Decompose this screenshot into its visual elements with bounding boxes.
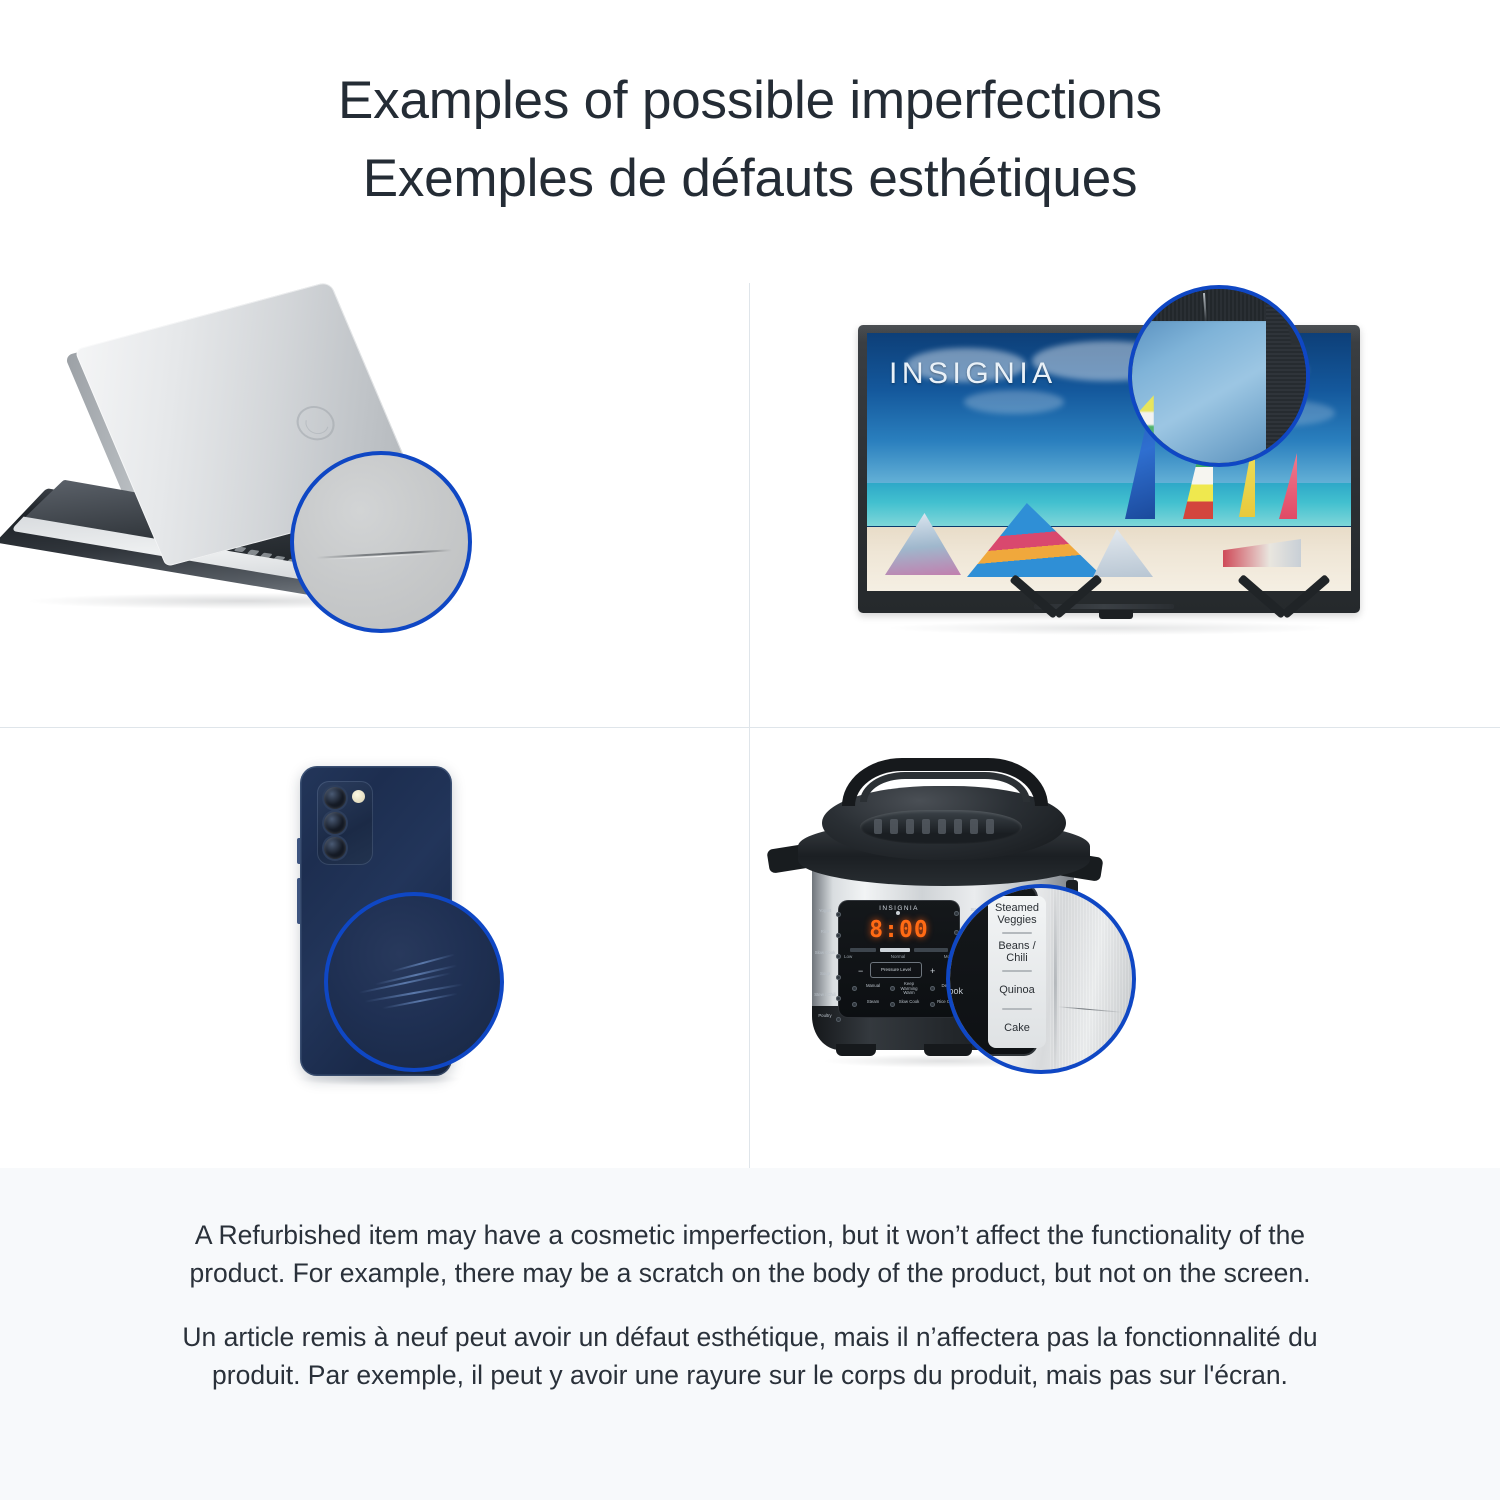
zoom-button-beans-chili[interactable]: Beans / Chili: [988, 934, 1046, 972]
cooker-button-stew-chili[interactable]: Stew / Chili: [812, 993, 838, 998]
television-foot-left: [998, 611, 1118, 649]
camera-lens-icon: [324, 812, 346, 834]
cooker-status-led-icon: [896, 911, 900, 915]
cooker-button-slow-cook[interactable]: Slow Cook: [812, 951, 838, 956]
panel-television: INSIGNIA: [750, 283, 1499, 727]
panel-pressure-cooker: INSIGNIA 8:00 Low Normal More − Pressure…: [750, 728, 1499, 1172]
zoom-steel-grain: [1050, 888, 1136, 1074]
smartphone-camera-module: [317, 781, 373, 865]
smartphone-scuff: [391, 953, 455, 972]
cooker-center-button-steam[interactable]: Steam: [860, 1000, 886, 1005]
zoom-steel-seam: [1054, 888, 1057, 1074]
cooker-pressure-indicator: [850, 948, 948, 953]
magnifier-circle-laptop: [290, 451, 472, 633]
cooker-left-button-column: Yogurt Rice Slow Cook Soup Stew / Chili …: [812, 904, 838, 1030]
cooker-control-panel: INSIGNIA 8:00 Low Normal More − Pressure…: [838, 900, 960, 1018]
cooker-minus-button[interactable]: −: [858, 966, 863, 976]
product-examples-grid: INSIGNIA: [0, 283, 1500, 1168]
magnifier-circle-smartphone: [324, 892, 504, 1072]
zoom-button-column: Steamed Veggies Beans / Chili Quinoa Cak…: [988, 896, 1046, 1048]
pressure-cooker-scratch: [1058, 1008, 1122, 1012]
cooker-pressure-level-button[interactable]: Pressure Level: [870, 962, 922, 978]
footer-paragraph-en: A Refurbished item may have a cosmetic i…: [160, 1216, 1340, 1292]
cooker-center-button-keep-warm[interactable]: Keep Warming Warm: [896, 982, 922, 996]
cooker-pressure-mode-labels: Low Normal More: [844, 954, 954, 959]
laptop-brand-logo-icon: [289, 400, 341, 446]
smartphone-volume-button: [297, 878, 300, 924]
zoom-button-steamed-veggies[interactable]: Steamed Veggies: [988, 896, 1046, 934]
cooker-button-yogurt[interactable]: Yogurt: [812, 909, 838, 914]
smartphone-illustration: [0, 728, 749, 1172]
television-foot-right: [1226, 611, 1346, 649]
screen-cloud: [964, 390, 1064, 414]
cooker-button-soup[interactable]: Soup: [812, 972, 838, 977]
imperfections-infographic: Examples of possible imperfections Exemp…: [0, 0, 1500, 1500]
cooker-button-rice[interactable]: Rice: [812, 930, 838, 935]
cooker-center-button-slow-cook[interactable]: Slow Cook: [896, 1000, 922, 1005]
television-screen-logo: INSIGNIA: [889, 357, 1057, 391]
cooker-lid-window: [860, 810, 1022, 844]
page-title-en: Examples of possible imperfections: [0, 62, 1500, 140]
page-title: Examples of possible imperfections Exemp…: [0, 62, 1500, 218]
camera-lens-icon: [324, 787, 346, 809]
laptop-scratch: [316, 551, 452, 557]
zoom-label-slow-cook: Slow Cook: [946, 986, 963, 996]
mode-low: Low: [844, 954, 852, 959]
television-illustration: INSIGNIA: [750, 283, 1499, 727]
zoom-button-quinoa[interactable]: Quinoa: [988, 972, 1046, 1010]
cooker-button-poultry[interactable]: Poultry: [812, 1014, 838, 1019]
camera-flash-icon: [352, 790, 365, 803]
zoom-bezel-corner: [1240, 289, 1310, 345]
smartphone-side-button: [297, 838, 300, 864]
zoom-button-cake[interactable]: Cake: [988, 1010, 1046, 1048]
panel-laptop: [0, 283, 749, 727]
camera-lens-icon: [324, 837, 346, 859]
pressure-cooker-illustration: INSIGNIA 8:00 Low Normal More − Pressure…: [750, 728, 1499, 1172]
panel-smartphone: [0, 728, 749, 1172]
cooker-plus-button[interactable]: +: [930, 966, 935, 976]
page-title-fr: Exemples de défauts esthétiques: [0, 140, 1500, 218]
cooker-carry-handle-inner: [860, 772, 1030, 802]
laptop-illustration: [0, 283, 749, 727]
footer-paragraph-fr: Un article remis à neuf peut avoir un dé…: [160, 1318, 1340, 1394]
explanatory-footer: A Refurbished item may have a cosmetic i…: [0, 1168, 1500, 1500]
magnifier-circle-television: [1128, 285, 1310, 467]
cooker-center-button-manual[interactable]: Manual: [860, 984, 886, 989]
magnifier-circle-pressure-cooker: Delay Slow Cook Steamed Veggies Beans / …: [946, 884, 1136, 1074]
screen-sea: [867, 483, 1351, 527]
mode-normal: Normal: [891, 954, 906, 959]
cooker-display: 8:00: [864, 917, 934, 943]
